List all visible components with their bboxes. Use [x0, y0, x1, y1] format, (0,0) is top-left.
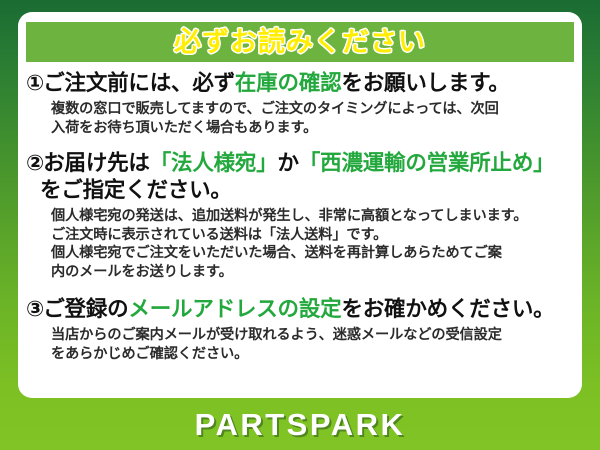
item-2-heading-line-2: をご指定ください。: [26, 177, 574, 204]
partspark-logo: PARTSPARK: [195, 409, 406, 440]
notice-item-2: ②お届け先は「法人様宛」か「西濃運輸の営業所止め」 をご指定ください。 個人様宅…: [18, 150, 582, 282]
item-3-body-line-1: 当店からのご案内メールが受け取れるよう、迷惑メールなどの受信設定: [51, 326, 574, 345]
banner-title: 必ずお読みください: [174, 29, 426, 56]
item-1-head-text-1: ご注文前には、必ず: [43, 71, 235, 95]
item-2-body-line-2: ご注文時に表示されている送料は「法人送料」です。: [51, 226, 574, 245]
item-1-highlight: 在庫の確認: [235, 71, 342, 95]
notice-panel: 必ずお読みください ①ご注文前には、必ず在庫の確認をお願いします。 複数の窓口で…: [18, 12, 582, 398]
item-2-body: 個人様宅宛の発送は、追加送料が発生し、非常に高額となってしまいます。 ご注文時に…: [26, 204, 574, 283]
item-2-body-line-4: 内のメールをお送りします。: [51, 263, 574, 282]
notice-item-list: ①ご注文前には、必ず在庫の確認をお願いします。 複数の窓口で販売してますので、ご…: [18, 70, 582, 364]
item-2-body-line-3: 個人様宅宛でご注文をいただいた場合、送料を再計算しあらためてご案: [51, 244, 574, 263]
item-3-head-text-1: ご登録の: [43, 297, 128, 321]
item-1-body-line-1: 複数の窓口で販売してますので、ご注文のタイミングによっては、次回: [51, 100, 574, 119]
item-2-head-text-2: か: [278, 151, 299, 175]
item-2-heading: ②お届け先は「法人様宛」か「西濃運輸の営業所止め」 をご指定ください。: [26, 150, 574, 203]
title-bar: 必ずお読みください: [26, 22, 574, 62]
item-1-number: ①: [26, 71, 43, 95]
item-3-body: 当店からのご案内メールが受け取れるよう、迷惑メールなどの受信設定 をあらかじめご…: [26, 323, 574, 364]
item-3-head-text-2: をお確かめください。: [341, 297, 554, 321]
item-2-body-line-1: 個人様宅宛の発送は、追加送料が発生し、非常に高額となってしまいます。: [51, 207, 574, 226]
item-3-heading: ③ご登録のメールアドレスの設定をお確かめください。: [26, 296, 574, 323]
item-1-body: 複数の窓口で販売してますので、ご注文のタイミングによっては、次回 入荷をお待ち頂…: [26, 97, 574, 138]
item-3-highlight: メールアドレスの設定: [128, 297, 341, 321]
notice-item-3: ③ご登録のメールアドレスの設定をお確かめください。 当店からのご案内メールが受け…: [18, 296, 582, 363]
item-2-highlight-2: 「西濃運輸の営業所止め」: [299, 151, 555, 175]
item-3-number: ③: [26, 297, 43, 321]
item-2-highlight-1: 「法人様宛」: [150, 151, 278, 175]
footer-logo-bar: PARTSPARK: [0, 398, 600, 450]
notice-banner: 必ずお読みください ①ご注文前には、必ず在庫の確認をお願いします。 複数の窓口で…: [0, 0, 600, 450]
item-3-body-line-2: をあらかじめご確認ください。: [51, 345, 574, 364]
item-1-body-line-2: 入荷をお待ち頂いただく場合もあります。: [51, 119, 574, 138]
notice-item-1: ①ご注文前には、必ず在庫の確認をお願いします。 複数の窓口で販売してますので、ご…: [18, 70, 582, 137]
item-2-number: ②: [26, 151, 43, 175]
item-1-head-text-2: をお願いします。: [341, 71, 509, 95]
item-1-heading: ①ご注文前には、必ず在庫の確認をお願いします。: [26, 70, 574, 97]
item-2-head-text-1: お届け先は: [43, 151, 150, 175]
